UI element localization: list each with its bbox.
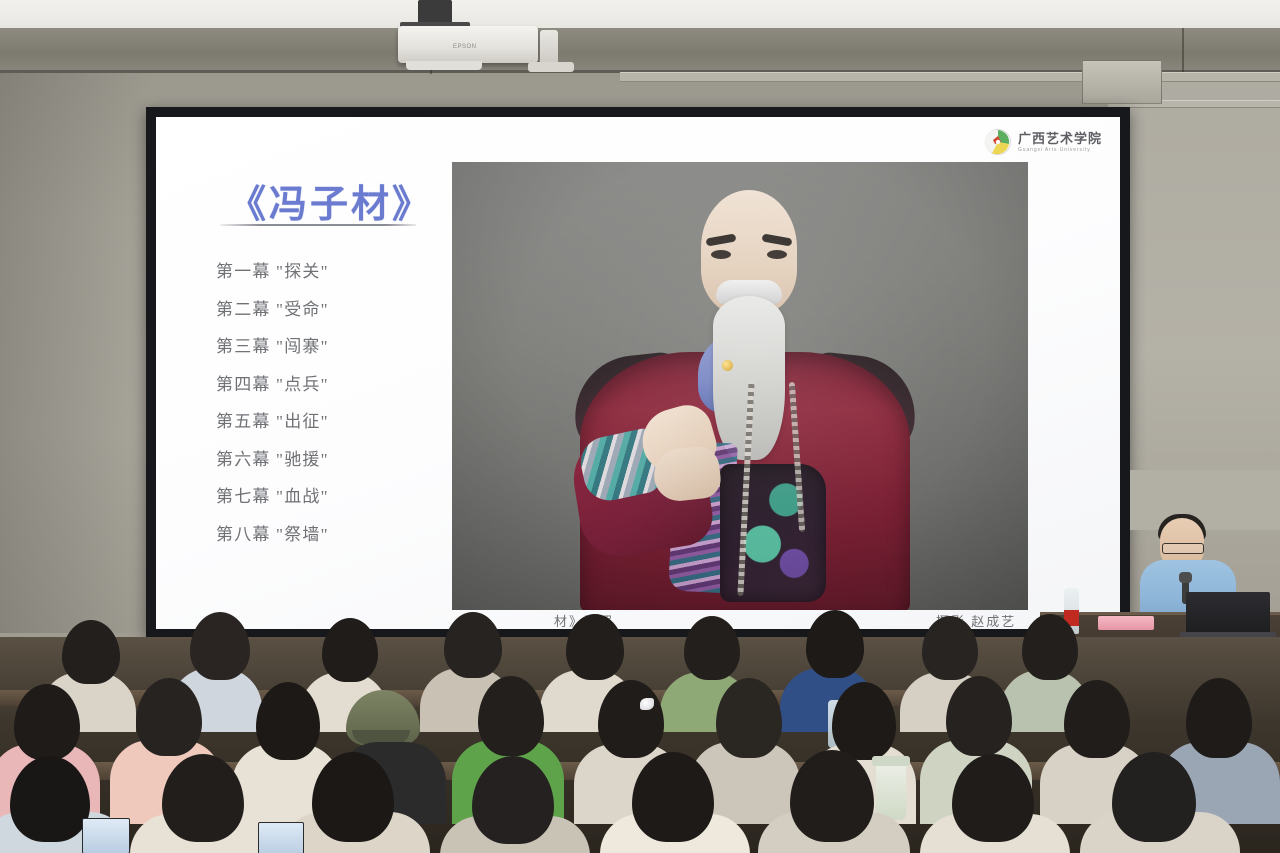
left-wall-shadow bbox=[0, 73, 150, 633]
projector: EPSON bbox=[398, 26, 538, 63]
ceiling bbox=[0, 0, 1280, 30]
act-list: 第一幕 "探关" 第二幕 "受命" 第三幕 "闯寨" 第四幕 "点兵" 第五幕 … bbox=[216, 257, 329, 545]
ceiling-sensor-base bbox=[528, 62, 574, 72]
act-item: 第七幕 "血战" bbox=[216, 482, 329, 507]
act-item: 第一幕 "探关" bbox=[216, 257, 329, 282]
bubble-tea-cup bbox=[876, 762, 906, 820]
act-item: 第三幕 "闯寨" bbox=[216, 332, 329, 357]
photo-vignette bbox=[452, 162, 1028, 610]
microphone-head bbox=[1179, 572, 1192, 583]
presenter-glasses-icon bbox=[1162, 543, 1204, 554]
act-item: 第五幕 "出征" bbox=[216, 407, 329, 432]
smartphone[interactable] bbox=[82, 818, 130, 853]
logo-text-english: Guangxi Arts University bbox=[1018, 148, 1102, 153]
logo-text-chinese: 广西艺术学院 bbox=[1018, 132, 1102, 145]
act-item: 第八幕 "祭墙" bbox=[216, 520, 329, 545]
act-item: 第四幕 "点兵" bbox=[216, 370, 329, 395]
hair-clip bbox=[640, 698, 654, 710]
smartphone[interactable] bbox=[258, 822, 304, 853]
podium-back-wall bbox=[1130, 470, 1280, 530]
bubble-tea-lid bbox=[872, 756, 910, 766]
laptop-screen[interactable] bbox=[1186, 592, 1270, 634]
university-logo: 广西艺术学院 Guangxi Arts University bbox=[983, 127, 1102, 157]
ceiling-sensor bbox=[540, 30, 558, 66]
guangxi-arts-university-logo-icon bbox=[983, 127, 1013, 157]
title-underline bbox=[220, 224, 416, 226]
wall-crack bbox=[1182, 28, 1184, 74]
slide-title: 《冯子材》 bbox=[228, 173, 433, 228]
opera-production-photo bbox=[452, 162, 1028, 610]
pink-papers bbox=[1098, 616, 1154, 630]
screen-roller-housing bbox=[1082, 60, 1162, 104]
act-item: 第二幕 "受命" bbox=[216, 295, 329, 320]
conduit-pipe bbox=[620, 72, 1280, 82]
projector-brand-label: EPSON bbox=[453, 44, 477, 50]
presentation-slide: 广西艺术学院 Guangxi Arts University 《冯子材》 第一幕… bbox=[156, 117, 1120, 629]
lecture-hall-scene: EPSON 广西艺术学院 Guangxi Arts University bbox=[0, 0, 1280, 853]
act-item: 第六幕 "驰援" bbox=[216, 445, 329, 470]
